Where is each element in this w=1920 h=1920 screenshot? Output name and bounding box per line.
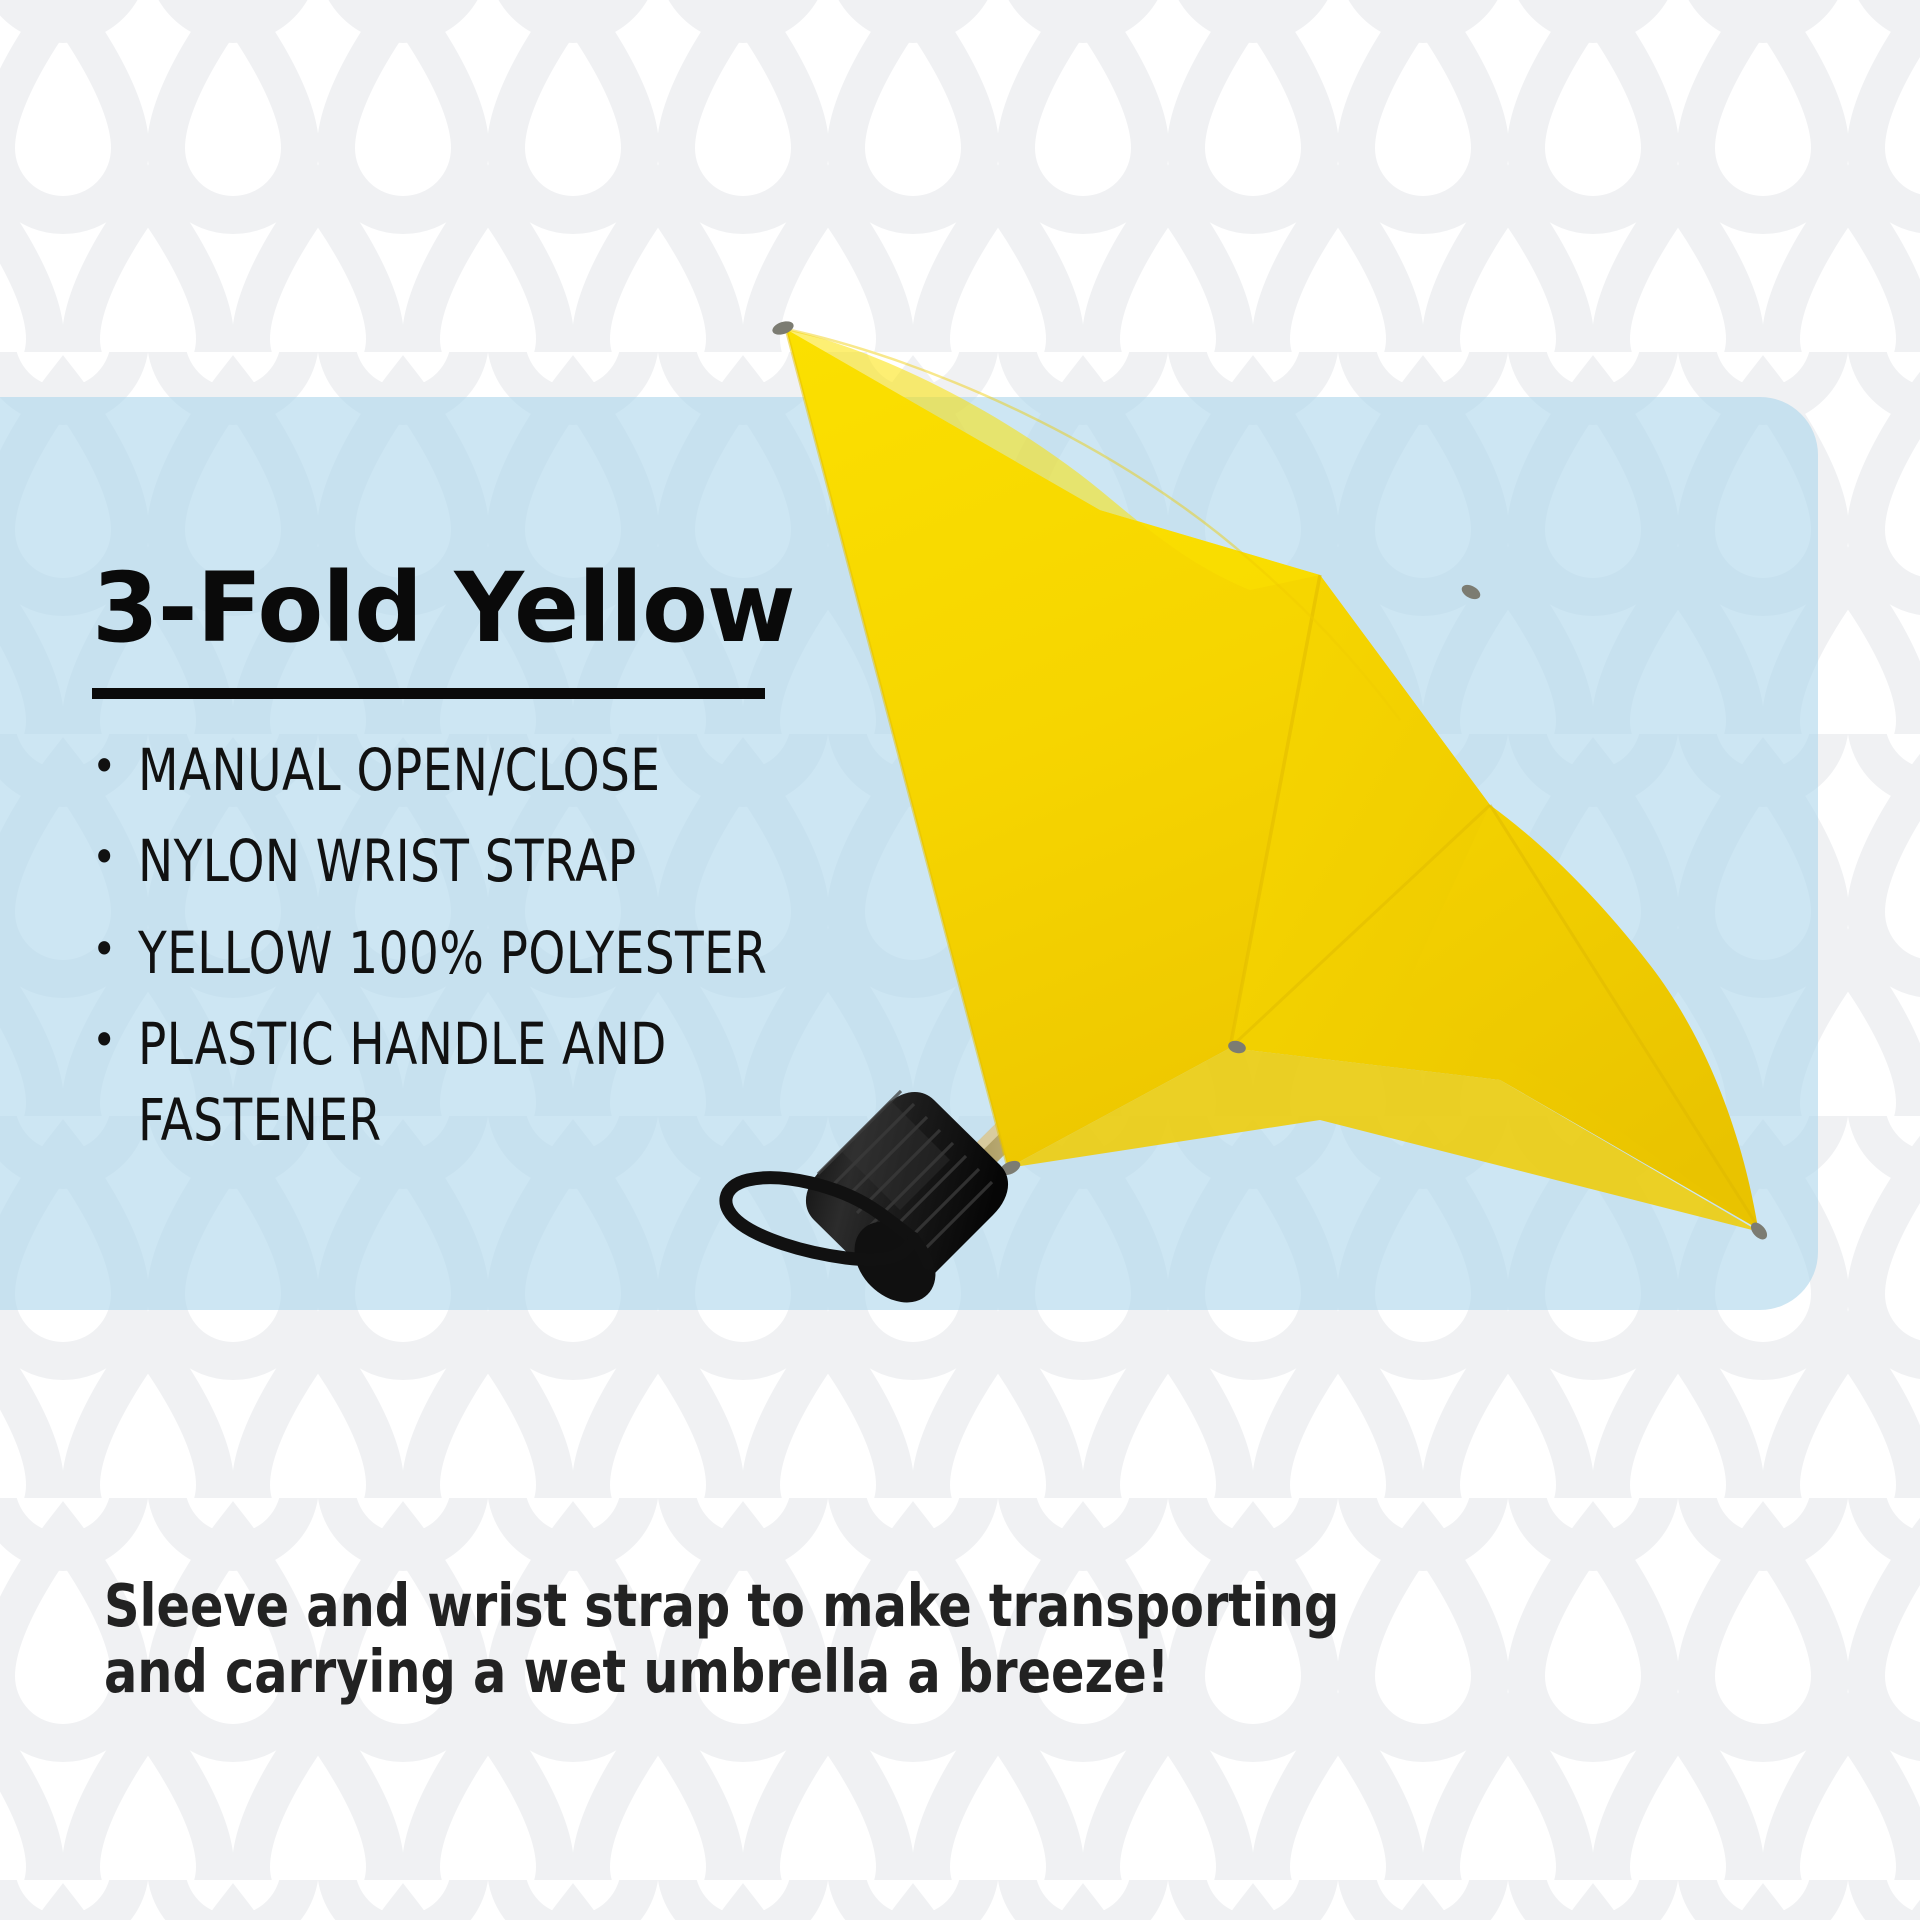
product-info-text-block: 3-Fold Yellow • MANUAL OPEN/CLOSE • NYLO… xyxy=(92,560,922,1174)
list-item: • YELLOW 100% POLYESTER xyxy=(92,916,922,991)
feature-label: MANUAL OPEN/CLOSE xyxy=(138,733,844,808)
list-item: • NYLON WRIST STRAP xyxy=(92,824,922,899)
bottom-caption: Sleeve and wrist strap to make transport… xyxy=(104,1573,1524,1705)
caption-line-1: Sleeve and wrist strap to make transport… xyxy=(104,1573,1425,1639)
caption-line-2: and carrying a wet umbrella a breeze! xyxy=(104,1639,1425,1705)
feature-list: • MANUAL OPEN/CLOSE • NYLON WRIST STRAP … xyxy=(92,733,922,1158)
bullet-icon: • xyxy=(92,916,138,983)
list-item: • MANUAL OPEN/CLOSE xyxy=(92,733,922,808)
feature-label: PLASTIC HANDLE AND FASTENER xyxy=(138,1007,844,1158)
page-title: 3-Fold Yellow xyxy=(92,560,922,656)
bullet-icon: • xyxy=(92,1007,138,1074)
infographic-canvas: 3-Fold Yellow • MANUAL OPEN/CLOSE • NYLO… xyxy=(0,0,1920,1920)
title-underline-rule xyxy=(92,688,765,699)
feature-label: NYLON WRIST STRAP xyxy=(138,824,844,899)
bullet-icon: • xyxy=(92,824,138,891)
bullet-icon: • xyxy=(92,733,138,800)
feature-label: YELLOW 100% POLYESTER xyxy=(138,916,844,991)
list-item: • PLASTIC HANDLE AND FASTENER xyxy=(92,1007,922,1158)
